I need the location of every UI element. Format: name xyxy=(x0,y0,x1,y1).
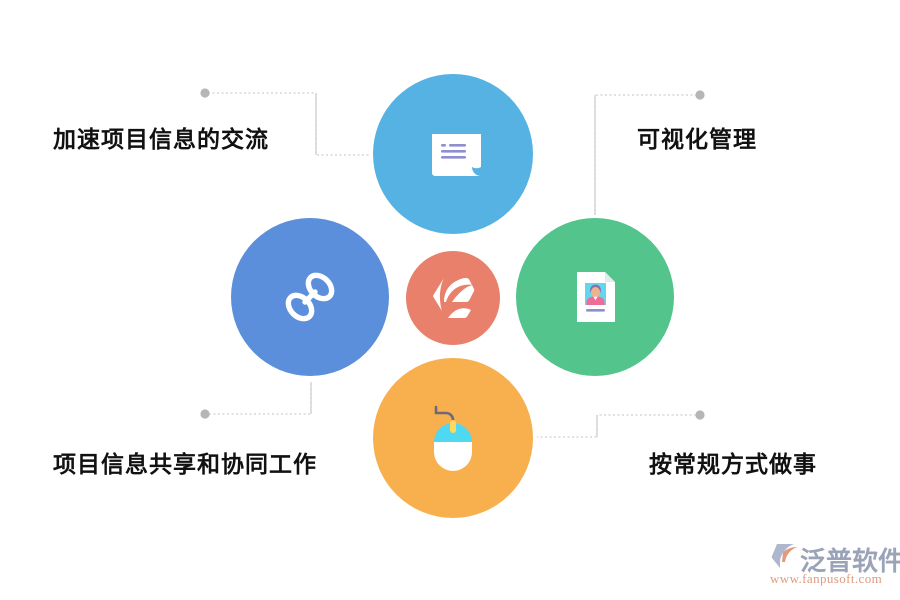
connector-dot-top-left xyxy=(200,88,209,97)
connector-dot-top-right xyxy=(695,90,704,99)
label-top-left: 加速项目信息的交流 xyxy=(53,120,269,154)
watermark-logo: 泛普软件 www.fanpusoft.com xyxy=(768,541,892,589)
node-circle-center[interactable] xyxy=(406,251,500,345)
scroll-document-icon xyxy=(416,117,490,191)
label-bottom-right: 按常规方式做事 xyxy=(649,445,817,479)
fanpu-mark-icon xyxy=(768,542,798,570)
computer-mouse-icon xyxy=(418,400,488,476)
connector-dot-bottom-right xyxy=(695,410,704,419)
label-top-right: 可视化管理 xyxy=(637,120,757,154)
label-bottom-left: 项目信息共享和协同工作 xyxy=(53,445,317,479)
node-circle-left[interactable] xyxy=(231,218,389,376)
connector-bottom-right xyxy=(537,410,705,437)
chain-link-icon xyxy=(278,265,342,329)
connector-bottom-left xyxy=(200,382,311,419)
node-circle-right[interactable] xyxy=(516,218,674,376)
id-card-icon xyxy=(564,266,626,328)
watermark-url: www.fanpusoft.com xyxy=(770,571,882,587)
connector-dot-bottom-left xyxy=(200,409,209,418)
infographic-canvas: 加速项目信息的交流 可视化管理 项目信息共享和协同工作 按常规方式做事 泛普软件… xyxy=(0,0,900,600)
node-circle-top[interactable] xyxy=(373,74,533,234)
node-circle-bottom[interactable] xyxy=(373,358,533,518)
fanpu-leaf-logo-icon xyxy=(428,273,478,323)
